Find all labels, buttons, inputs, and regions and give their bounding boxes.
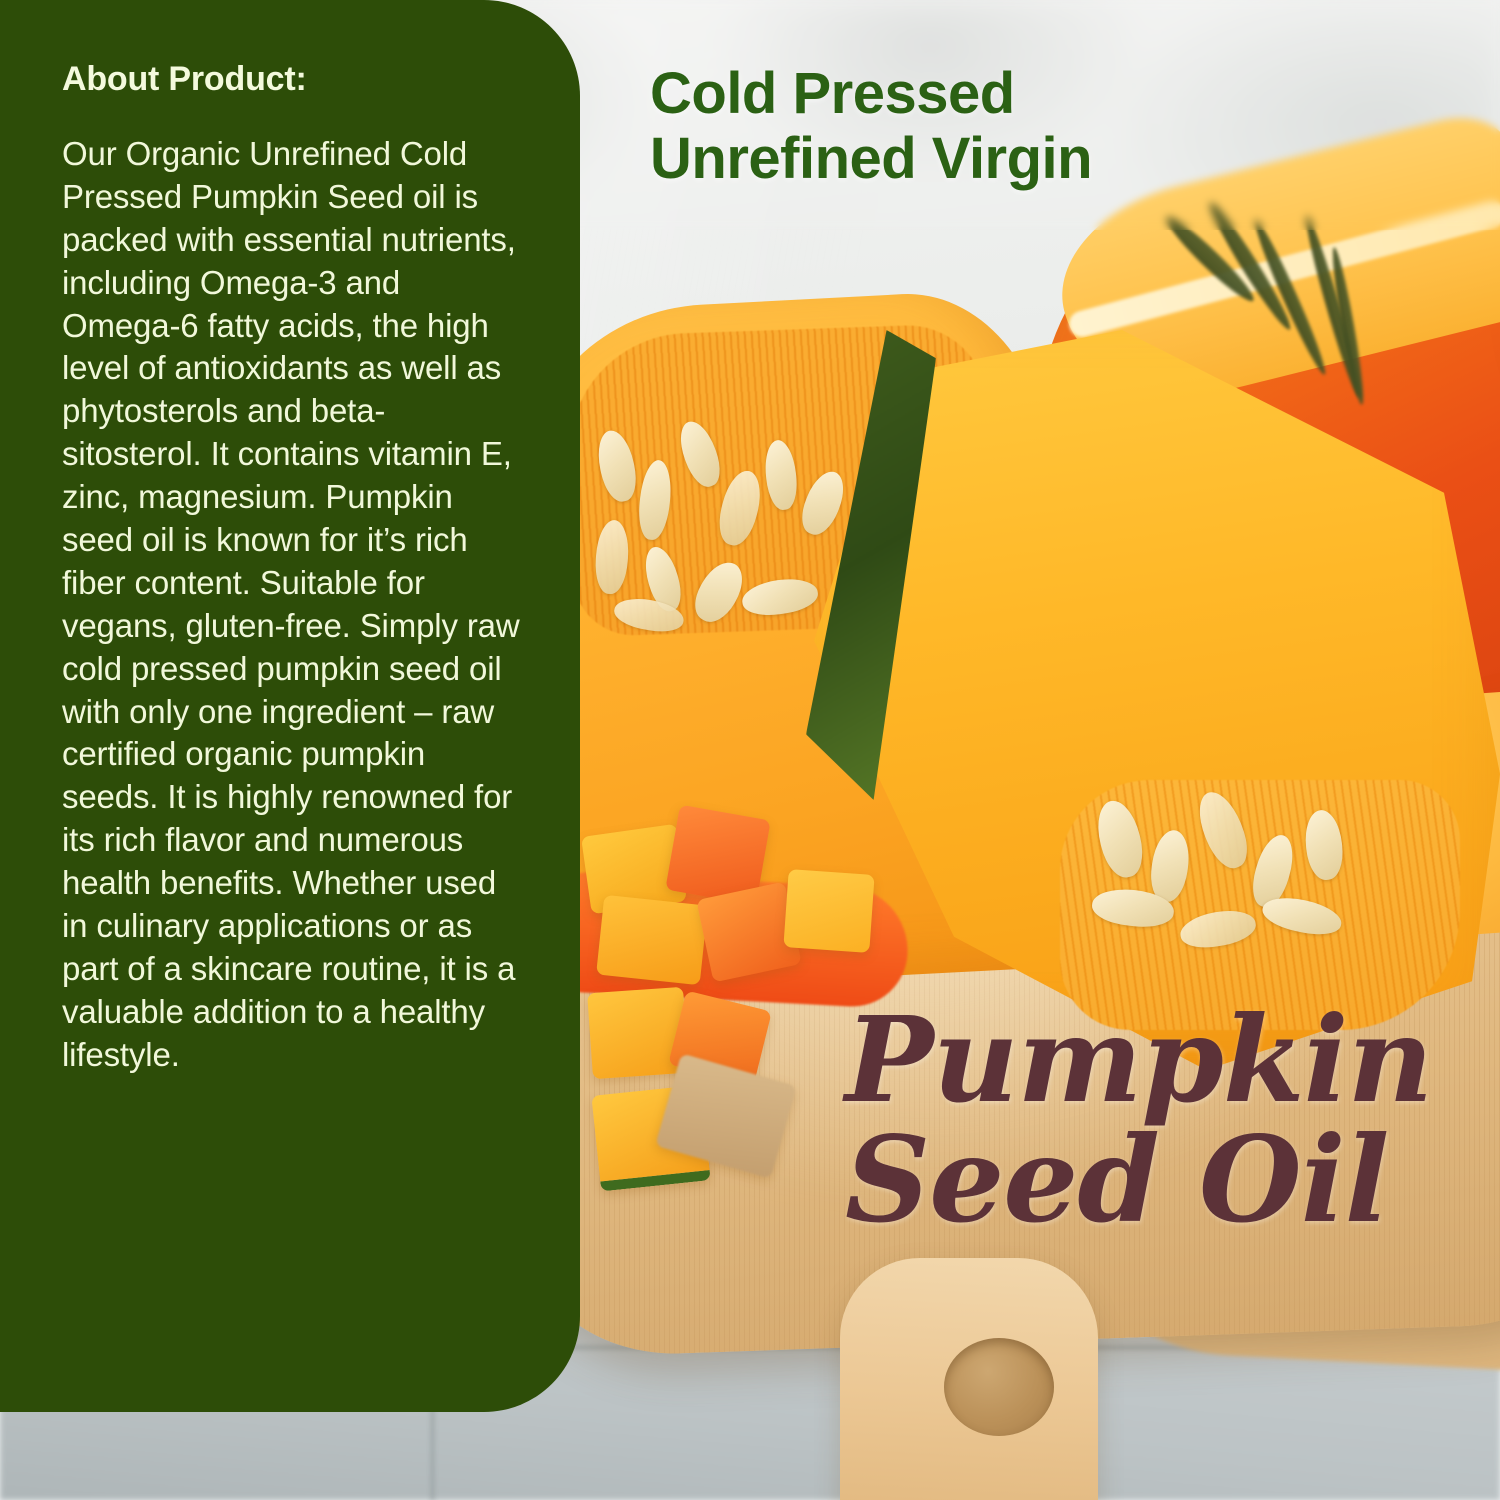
diced-pumpkin-cube — [596, 895, 708, 985]
product-name-script: Pumpkin Seed Oil — [845, 1000, 1485, 1241]
page-title: Cold Pressed Unrefined Virgin — [650, 62, 1410, 192]
infographic-canvas: Cold Pressed Unrefined Virgin Pumpkin Se… — [0, 0, 1500, 1500]
about-product-description: Our Organic Unrefined Cold Pressed Pumpk… — [62, 133, 522, 1077]
cutting-board-hanging-hole — [944, 1338, 1054, 1436]
diced-pumpkin-cube — [783, 869, 874, 953]
about-product-heading: About Product: — [62, 60, 522, 99]
about-product-panel: About Product: Our Organic Unrefined Col… — [0, 0, 580, 1412]
